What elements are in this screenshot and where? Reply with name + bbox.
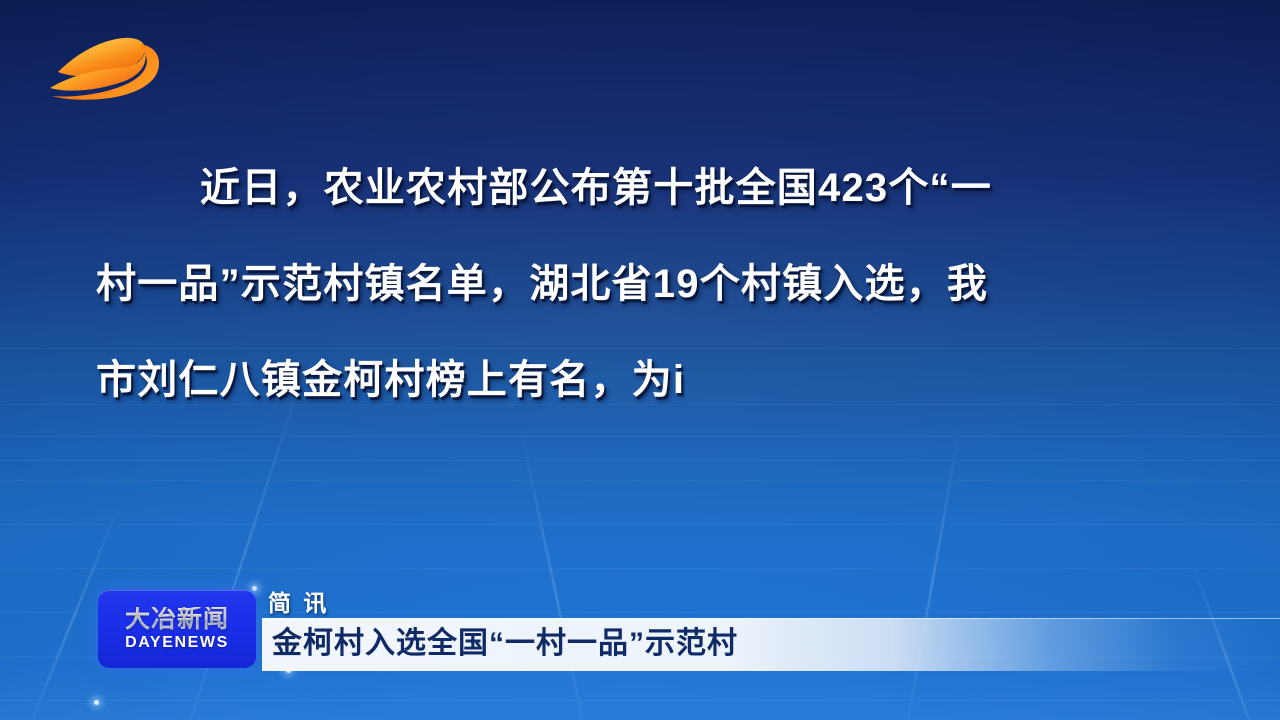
headline-text: 金柯村入选全国“一村一品”示范村	[272, 624, 738, 664]
caption-partial-character: i	[673, 332, 685, 428]
caption-line-3-text: 市刘仁八镇金柯村榜上有名，为	[96, 358, 673, 402]
lower-third: 大冶新闻 DAYENEWS 简 讯 金柯村入选全国“一村一品”示范村	[0, 568, 1280, 684]
background-glow-dot-3	[94, 700, 99, 705]
broadcast-screen: 近日，农业农村部公布第十批全国423个“一 村一品”示范村镇名单，湖北省19个村…	[0, 0, 1280, 720]
phoenix-swoosh-icon	[44, 24, 172, 108]
caption-line-1: 近日，农业农村部公布第十批全国423个“一	[96, 140, 1186, 236]
segment-kicker-label: 简 讯	[268, 584, 329, 618]
caption-line-3: 市刘仁八镇金柯村榜上有名，为i	[96, 332, 1186, 428]
station-badge: 大冶新闻 DAYENEWS	[98, 590, 256, 668]
station-badge-title-en: DAYENEWS	[125, 635, 229, 651]
caption-line-2: 村一品”示范村镇名单，湖北省19个村镇入选，我	[96, 236, 1186, 332]
station-badge-title-cn: 大冶新闻	[125, 607, 229, 632]
caption-text-block: 近日，农业农村部公布第十批全国423个“一 村一品”示范村镇名单，湖北省19个村…	[96, 140, 1186, 428]
channel-logo	[44, 24, 172, 108]
